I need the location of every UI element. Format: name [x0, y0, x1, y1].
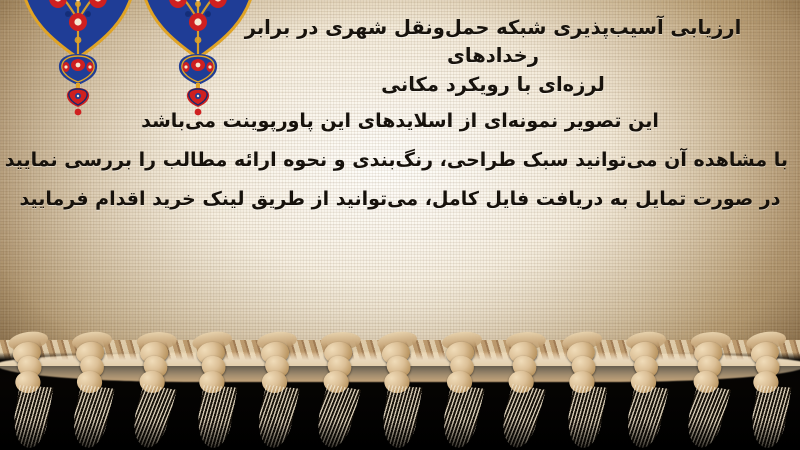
- body-line-1: این تصویر نمونه‌ای از اسلایدهای این پاور…: [12, 112, 788, 131]
- slide-title-line-1: ارزیابی آسیب‌پذیری شبکه حمل‌ونقل شهری در…: [245, 16, 742, 67]
- tassel: [560, 337, 610, 450]
- tassel-fibers: [126, 384, 177, 450]
- tassel-fibers: [680, 384, 731, 450]
- slide-body: این تصویر نمونه‌ای از اسلایدهای این پاور…: [12, 112, 788, 209]
- tassel-fibers: [193, 385, 238, 449]
- tassel: [190, 337, 240, 450]
- body-line-2: با مشاهده آن می‌توانید سبک طراحی، رنگ‌بن…: [12, 151, 788, 170]
- tassel-fibers: [9, 385, 54, 449]
- tassel-fibers: [311, 384, 362, 450]
- body-line-3: در صورت تمایل به دریافت فایل کامل، می‌تو…: [12, 190, 788, 209]
- tassel-fibers: [252, 385, 300, 450]
- tassel: [375, 337, 425, 450]
- tassel: [498, 337, 548, 450]
- slide-title: ارزیابی آسیب‌پذیری شبکه حمل‌ونقل شهری در…: [210, 14, 776, 99]
- tassel: [440, 338, 484, 450]
- tassel-fibers: [437, 385, 485, 450]
- tassel: [255, 338, 299, 450]
- tassel: [70, 338, 114, 450]
- tassel: [129, 337, 179, 450]
- tassel: [683, 337, 733, 450]
- slide-canvas: ارزیابی آسیب‌پذیری شبکه حمل‌ونقل شهری در…: [0, 0, 800, 450]
- tassel-fibers: [562, 385, 607, 449]
- tassel-fibers: [747, 385, 792, 449]
- tassel: [624, 338, 668, 450]
- tassel-fibers: [496, 384, 547, 450]
- tassel-fibers: [67, 385, 115, 450]
- tassel: [314, 337, 364, 450]
- carpet-tassel-fringe: [0, 334, 800, 450]
- tassel: [6, 337, 56, 450]
- slide-title-line-2: لرزه‌ای با رویکرد مکانی: [381, 73, 605, 96]
- tassel-fibers: [378, 385, 423, 449]
- persian-tazhib-pendant-left-icon: [54, 54, 102, 116]
- tassel: [744, 337, 794, 450]
- tassel-fibers: [621, 385, 669, 450]
